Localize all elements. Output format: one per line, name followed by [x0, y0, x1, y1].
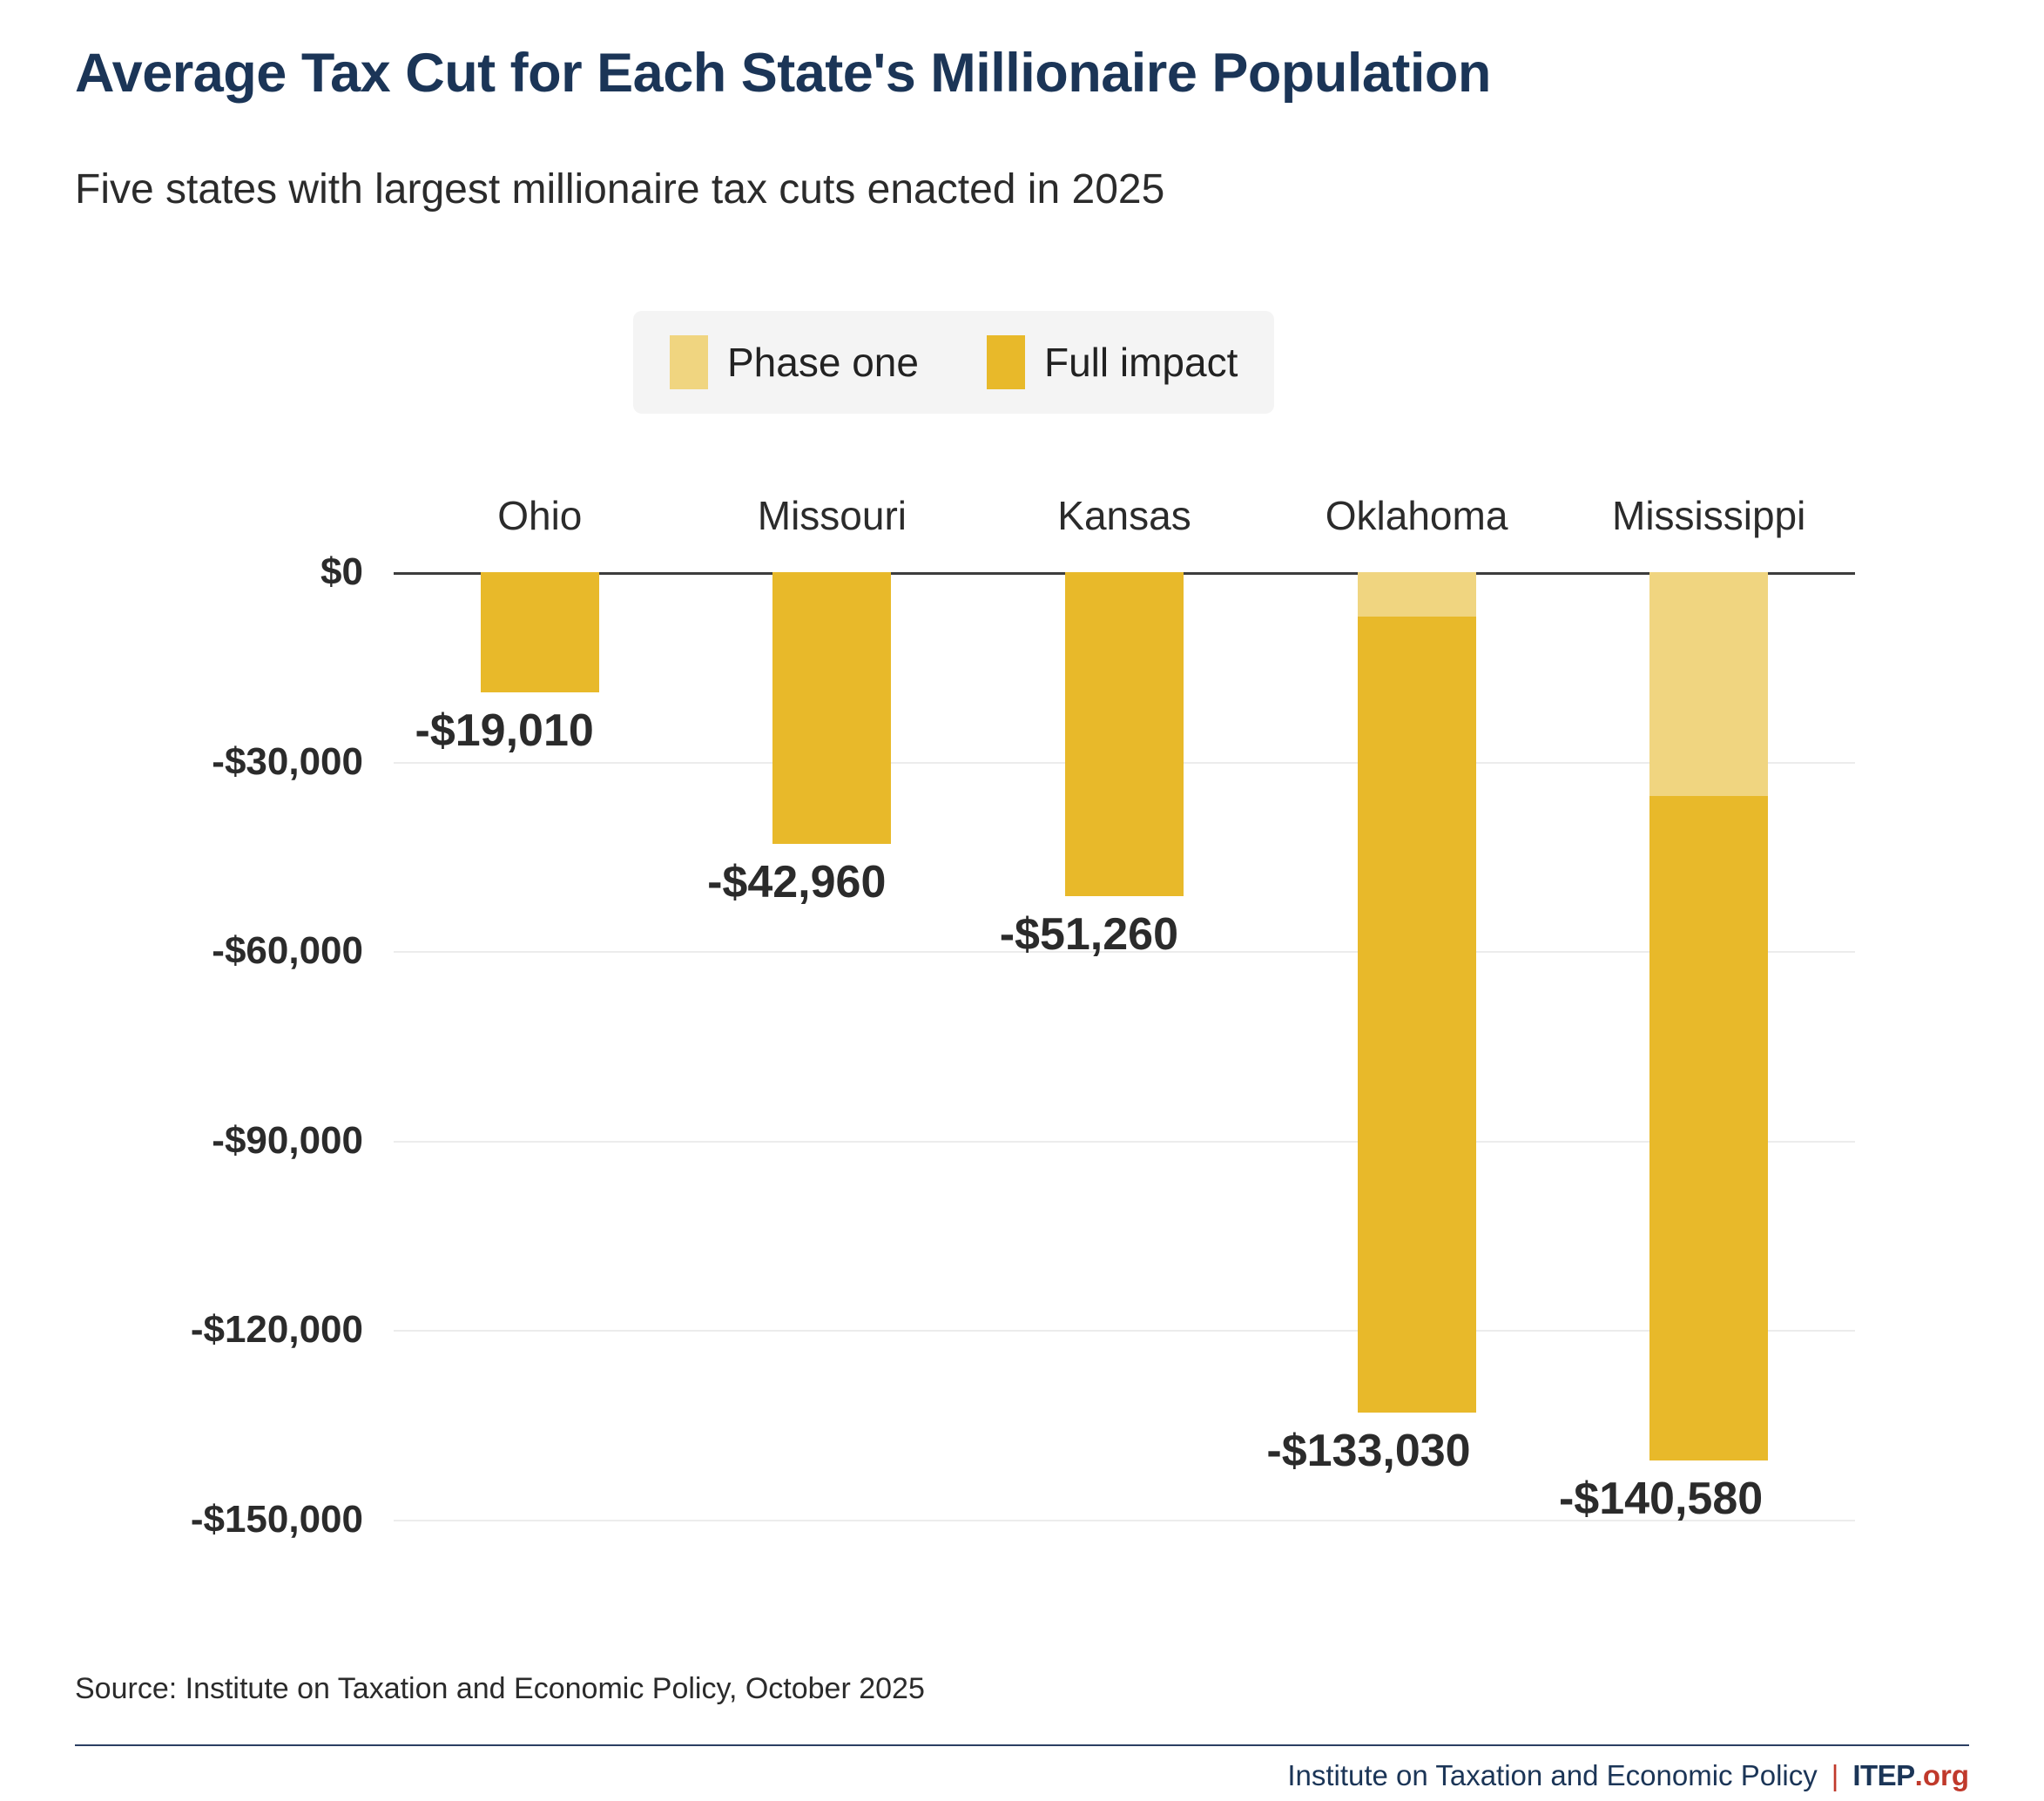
y-axis-tick-label: -$150,000 [191, 1498, 363, 1541]
y-axis-tick-label: -$90,000 [212, 1119, 363, 1163]
x-axis-category-label: Missouri [758, 492, 907, 539]
y-axis-tick-label: -$30,000 [212, 740, 363, 784]
bar-value-label: -$19,010 [415, 705, 594, 757]
brand-logo-org: .org [1915, 1759, 1969, 1791]
y-axis-tick-label: $0 [320, 550, 363, 594]
bar-phase-one[interactable] [1358, 572, 1476, 617]
x-axis-category-label: Oklahoma [1326, 492, 1508, 539]
bar-value-label: -$42,960 [707, 856, 886, 908]
bar-phase-one[interactable] [1649, 572, 1768, 796]
chart-page: Average Tax Cut for Each State's Million… [0, 0, 2044, 1801]
y-axis-tick-label: -$60,000 [212, 929, 363, 973]
x-axis-category-label: Ohio [497, 492, 582, 539]
bar-value-label: -$140,580 [1559, 1473, 1763, 1525]
y-axis-tick-label: -$120,000 [191, 1308, 363, 1352]
bar-full-impact[interactable] [772, 572, 891, 844]
bar-full-impact[interactable] [1065, 572, 1184, 896]
bar-full-impact[interactable] [1358, 572, 1476, 1413]
brand-footer: Institute on Taxation and Economic Polic… [1287, 1759, 1969, 1792]
brand-separator: | [1832, 1759, 1839, 1792]
gridline [394, 1141, 1855, 1143]
bar-chart-plot-area: $0-$30,000-$60,000-$90,000-$120,000-$150… [0, 0, 2044, 1801]
brand-org-name: Institute on Taxation and Economic Polic… [1287, 1759, 1817, 1792]
bar-full-impact[interactable] [481, 572, 599, 692]
x-axis-category-label: Mississippi [1612, 492, 1805, 539]
gridline [394, 1330, 1855, 1332]
brand-logo-itep: ITEP [1852, 1759, 1914, 1791]
bar-value-label: -$51,260 [1000, 908, 1178, 961]
x-axis-category-label: Kansas [1057, 492, 1191, 539]
source-note: Source: Institute on Taxation and Econom… [75, 1672, 925, 1706]
bar-value-label: -$133,030 [1266, 1425, 1470, 1477]
footer-divider [75, 1744, 1969, 1746]
brand-logo[interactable]: ITEP.org [1852, 1759, 1969, 1792]
